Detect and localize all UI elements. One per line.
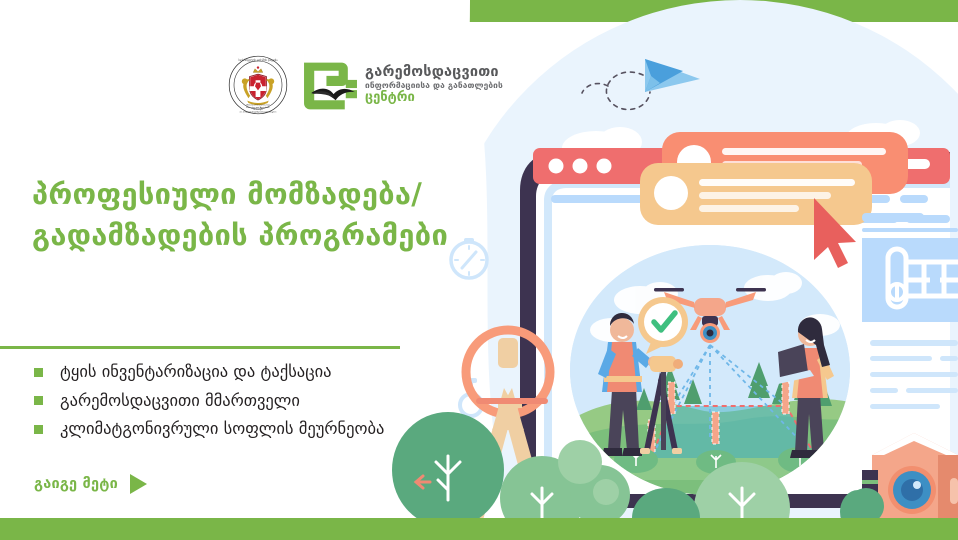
org-name-line3: ცენტრი bbox=[365, 91, 503, 105]
notification-card-tan bbox=[640, 163, 872, 225]
play-triangle-icon[interactable] bbox=[130, 474, 147, 494]
logo-row: საქართველოს გარემოს დაცვისა და სოფლის მე… bbox=[228, 55, 503, 115]
browser-dot-1 bbox=[549, 159, 564, 174]
svg-text:Protection and Agriculture: Protection and Agriculture bbox=[246, 106, 270, 109]
list-item: კლიმატგონივრული სოფლის მეურნეობა bbox=[34, 419, 474, 440]
svg-text:საქართველოს გარემოს დაცვისა: საქართველოს გარემოს დაცვისა bbox=[239, 59, 279, 62]
promo-banner: საქართველოს გარემოს დაცვისა და სოფლის მე… bbox=[0, 0, 958, 540]
paper-plane-icon bbox=[645, 59, 700, 92]
page-title: პროფესიული მომზადება/გადამზადების პროგრა… bbox=[32, 174, 462, 256]
georgia-ministry-coat-of-arms-seal: საქართველოს გარემოს დაცვისა და სოფლის მე… bbox=[228, 55, 288, 115]
learn-more-button[interactable]: გაიგე მეტი bbox=[34, 474, 147, 494]
green-divider bbox=[0, 346, 400, 349]
org-text: გარემოსდაცვითი ინფორმაციისა და განათლები… bbox=[365, 65, 503, 105]
blueprint-document-card bbox=[862, 238, 958, 322]
notification-avatar-tan bbox=[654, 176, 688, 210]
learn-more-label: გაიგე მეტი bbox=[34, 476, 118, 492]
list-item: გარემოსდაცვითი მმართველი bbox=[34, 391, 474, 412]
browser-dot-3 bbox=[597, 159, 612, 174]
bullet-square-icon bbox=[34, 425, 43, 434]
list-item-label: ტყის ინვენტარიზაცია და ტაქსაცია bbox=[60, 362, 332, 383]
bullet-square-icon bbox=[34, 368, 43, 377]
org-name-line2: ინფორმაციისა და განათლების bbox=[365, 81, 503, 90]
org-name-line1: გარემოსდაცვითი bbox=[365, 65, 503, 80]
svg-text:of Georgia: of Georgia bbox=[253, 108, 262, 111]
open-book-square-logo-mark bbox=[302, 59, 358, 111]
browser-dot-2 bbox=[573, 159, 588, 174]
list-item-label: კლიმატგონივრული სოფლის მეურნეობა bbox=[60, 419, 384, 440]
svg-text:Ministry of Environmental: Ministry of Environmental bbox=[246, 103, 270, 106]
bottom-green-bar-overlay bbox=[0, 518, 958, 540]
bullet-square-icon bbox=[34, 396, 43, 405]
program-list: ტყის ინვენტარიზაცია და ტაქსაცია გარემოსდ… bbox=[34, 362, 474, 448]
list-item-label: გარემოსდაცვითი მმართველი bbox=[60, 391, 300, 412]
list-item: ტყის ინვენტარიზაცია და ტაქსაცია bbox=[34, 362, 474, 383]
plane-trail-dashes bbox=[582, 72, 650, 109]
org-logo: გარემოსდაცვითი ინფორმაციისა და განათლები… bbox=[302, 59, 503, 111]
